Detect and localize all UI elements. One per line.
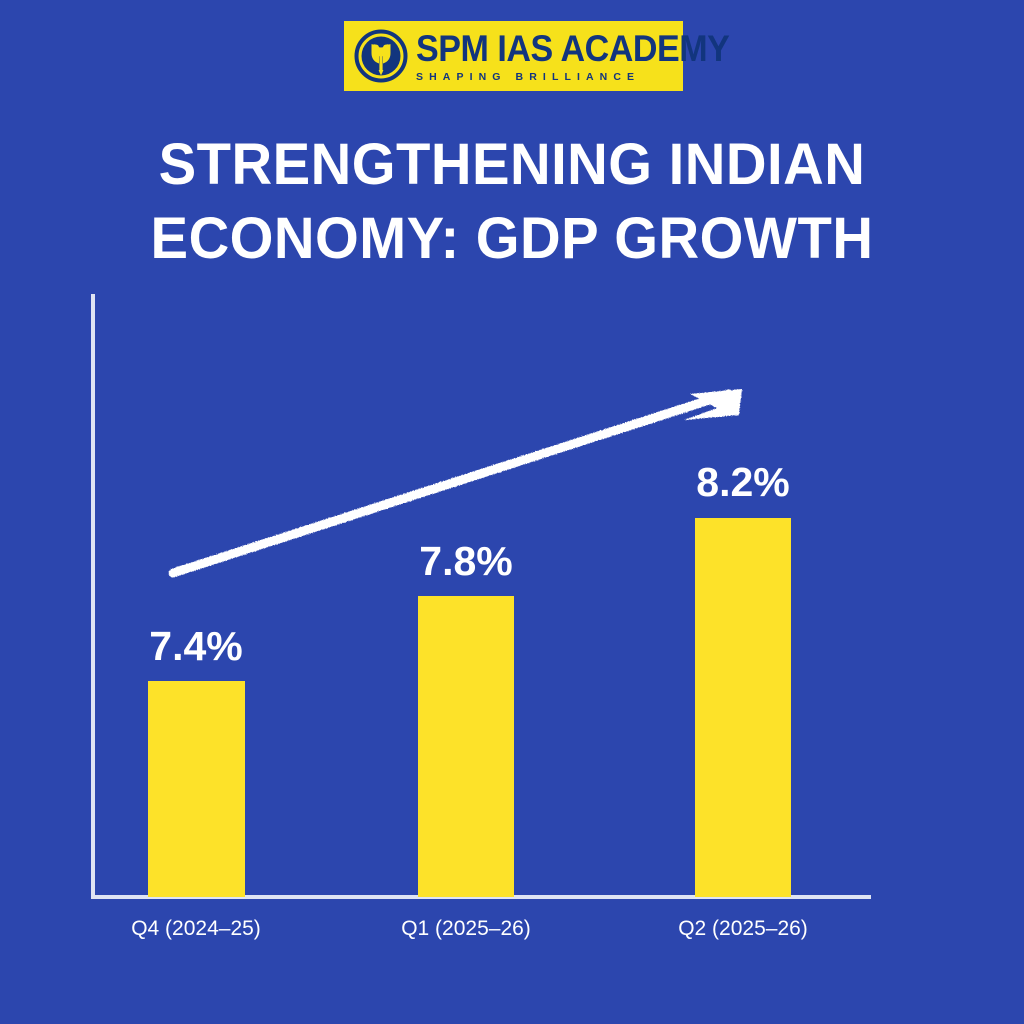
- gdp-growth-bar-chart: 7.4% 7.8% 8.2% Q4 (2024–25) Q1 (2025–26)…: [0, 0, 1024, 1024]
- y-axis-line: [91, 294, 95, 899]
- bar-q4-2024-25: [148, 681, 245, 897]
- x-axis-tick-label-q4: Q4 (2024–25): [96, 917, 296, 941]
- bar-q1-2025-26: [418, 596, 514, 897]
- bar-value-label-q1: 7.8%: [391, 538, 541, 585]
- x-axis-tick-label-q1: Q1 (2025–26): [366, 917, 566, 941]
- bar-q2-2025-26: [695, 518, 791, 897]
- x-axis-tick-label-q2: Q2 (2025–26): [643, 917, 843, 941]
- bar-value-label-q2: 8.2%: [668, 459, 818, 506]
- infographic-canvas: SPM IAS ACADEMY SHAPING BRILLIANCE STREN…: [0, 0, 1024, 1024]
- bar-value-label-q4: 7.4%: [121, 623, 271, 670]
